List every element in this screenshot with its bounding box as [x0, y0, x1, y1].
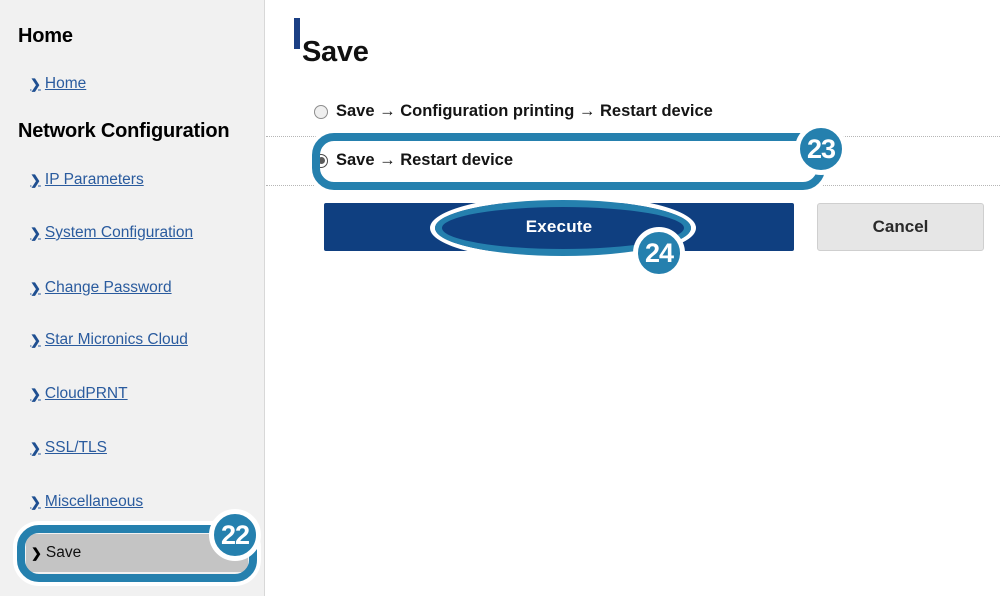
radio-option-label: Save → Configuration printing → Restart …	[336, 102, 713, 121]
sidebar-item-home[interactable]: ❯ Home	[30, 75, 86, 93]
sidebar-item-label: Miscellaneous	[45, 493, 143, 511]
cancel-button[interactable]: Cancel	[817, 203, 984, 251]
sidebar-item-label: CloudPRNT	[45, 385, 128, 403]
web-config-page: Home ❯ Home Network Configuration ❯ IP P…	[0, 0, 1000, 596]
sidebar-item-label: IP Parameters	[45, 171, 144, 189]
sidebar-group-title-network-configuration: Network Configuration	[18, 120, 229, 143]
page-title-accent-bar	[294, 18, 300, 49]
chevron-right-icon: ❯	[31, 546, 42, 559]
radio-button-selected[interactable]	[314, 154, 328, 168]
sidebar-item-label: Change Password	[45, 279, 172, 297]
sidebar-navigation: Home ❯ Home Network Configuration ❯ IP P…	[0, 0, 265, 596]
sidebar-item-label: Save	[46, 544, 81, 562]
page-title: Save	[302, 38, 369, 67]
sidebar-item-miscellaneous[interactable]: ❯ Miscellaneous	[30, 493, 143, 511]
radio-option-save-print-restart[interactable]: Save → Configuration printing → Restart …	[314, 102, 713, 121]
sidebar-item-save[interactable]: ❯ Save	[26, 534, 248, 572]
sidebar-item-label: System Configuration	[45, 224, 193, 242]
sidebar-item-change-password[interactable]: ❯ Change Password	[30, 279, 172, 297]
sidebar-item-ip-parameters[interactable]: ❯ IP Parameters	[30, 171, 144, 189]
sidebar-item-label: Home	[45, 75, 86, 93]
main-content: Save Save → Configuration printing → Res…	[266, 0, 1000, 596]
sidebar-item-system-configuration[interactable]: ❯ System Configuration	[30, 224, 193, 242]
sidebar-item-label: Star Micronics Cloud	[45, 331, 188, 349]
chevron-right-icon: ❯	[30, 441, 41, 454]
radio-option-label: Save → Restart device	[336, 151, 513, 170]
chevron-right-icon: ❯	[30, 387, 41, 400]
chevron-right-icon: ❯	[30, 173, 41, 186]
radio-button-unselected[interactable]	[314, 105, 328, 119]
divider	[266, 136, 1000, 137]
chevron-right-icon: ❯	[30, 77, 41, 90]
sidebar-item-cloudprnt[interactable]: ❯ CloudPRNT	[30, 385, 128, 403]
chevron-right-icon: ❯	[30, 495, 41, 508]
sidebar-group-title-home: Home	[18, 25, 73, 48]
chevron-right-icon: ❯	[30, 226, 41, 239]
sidebar-item-ssl-tls[interactable]: ❯ SSL/TLS	[30, 439, 107, 457]
radio-option-save-restart[interactable]: Save → Restart device	[314, 151, 513, 170]
sidebar-item-star-micronics-cloud[interactable]: ❯ Star Micronics Cloud	[30, 331, 188, 349]
chevron-right-icon: ❯	[30, 333, 41, 346]
divider	[266, 185, 1000, 186]
execute-button[interactable]: Execute	[324, 203, 794, 251]
chevron-right-icon: ❯	[30, 281, 41, 294]
sidebar-item-label: SSL/TLS	[45, 439, 107, 457]
